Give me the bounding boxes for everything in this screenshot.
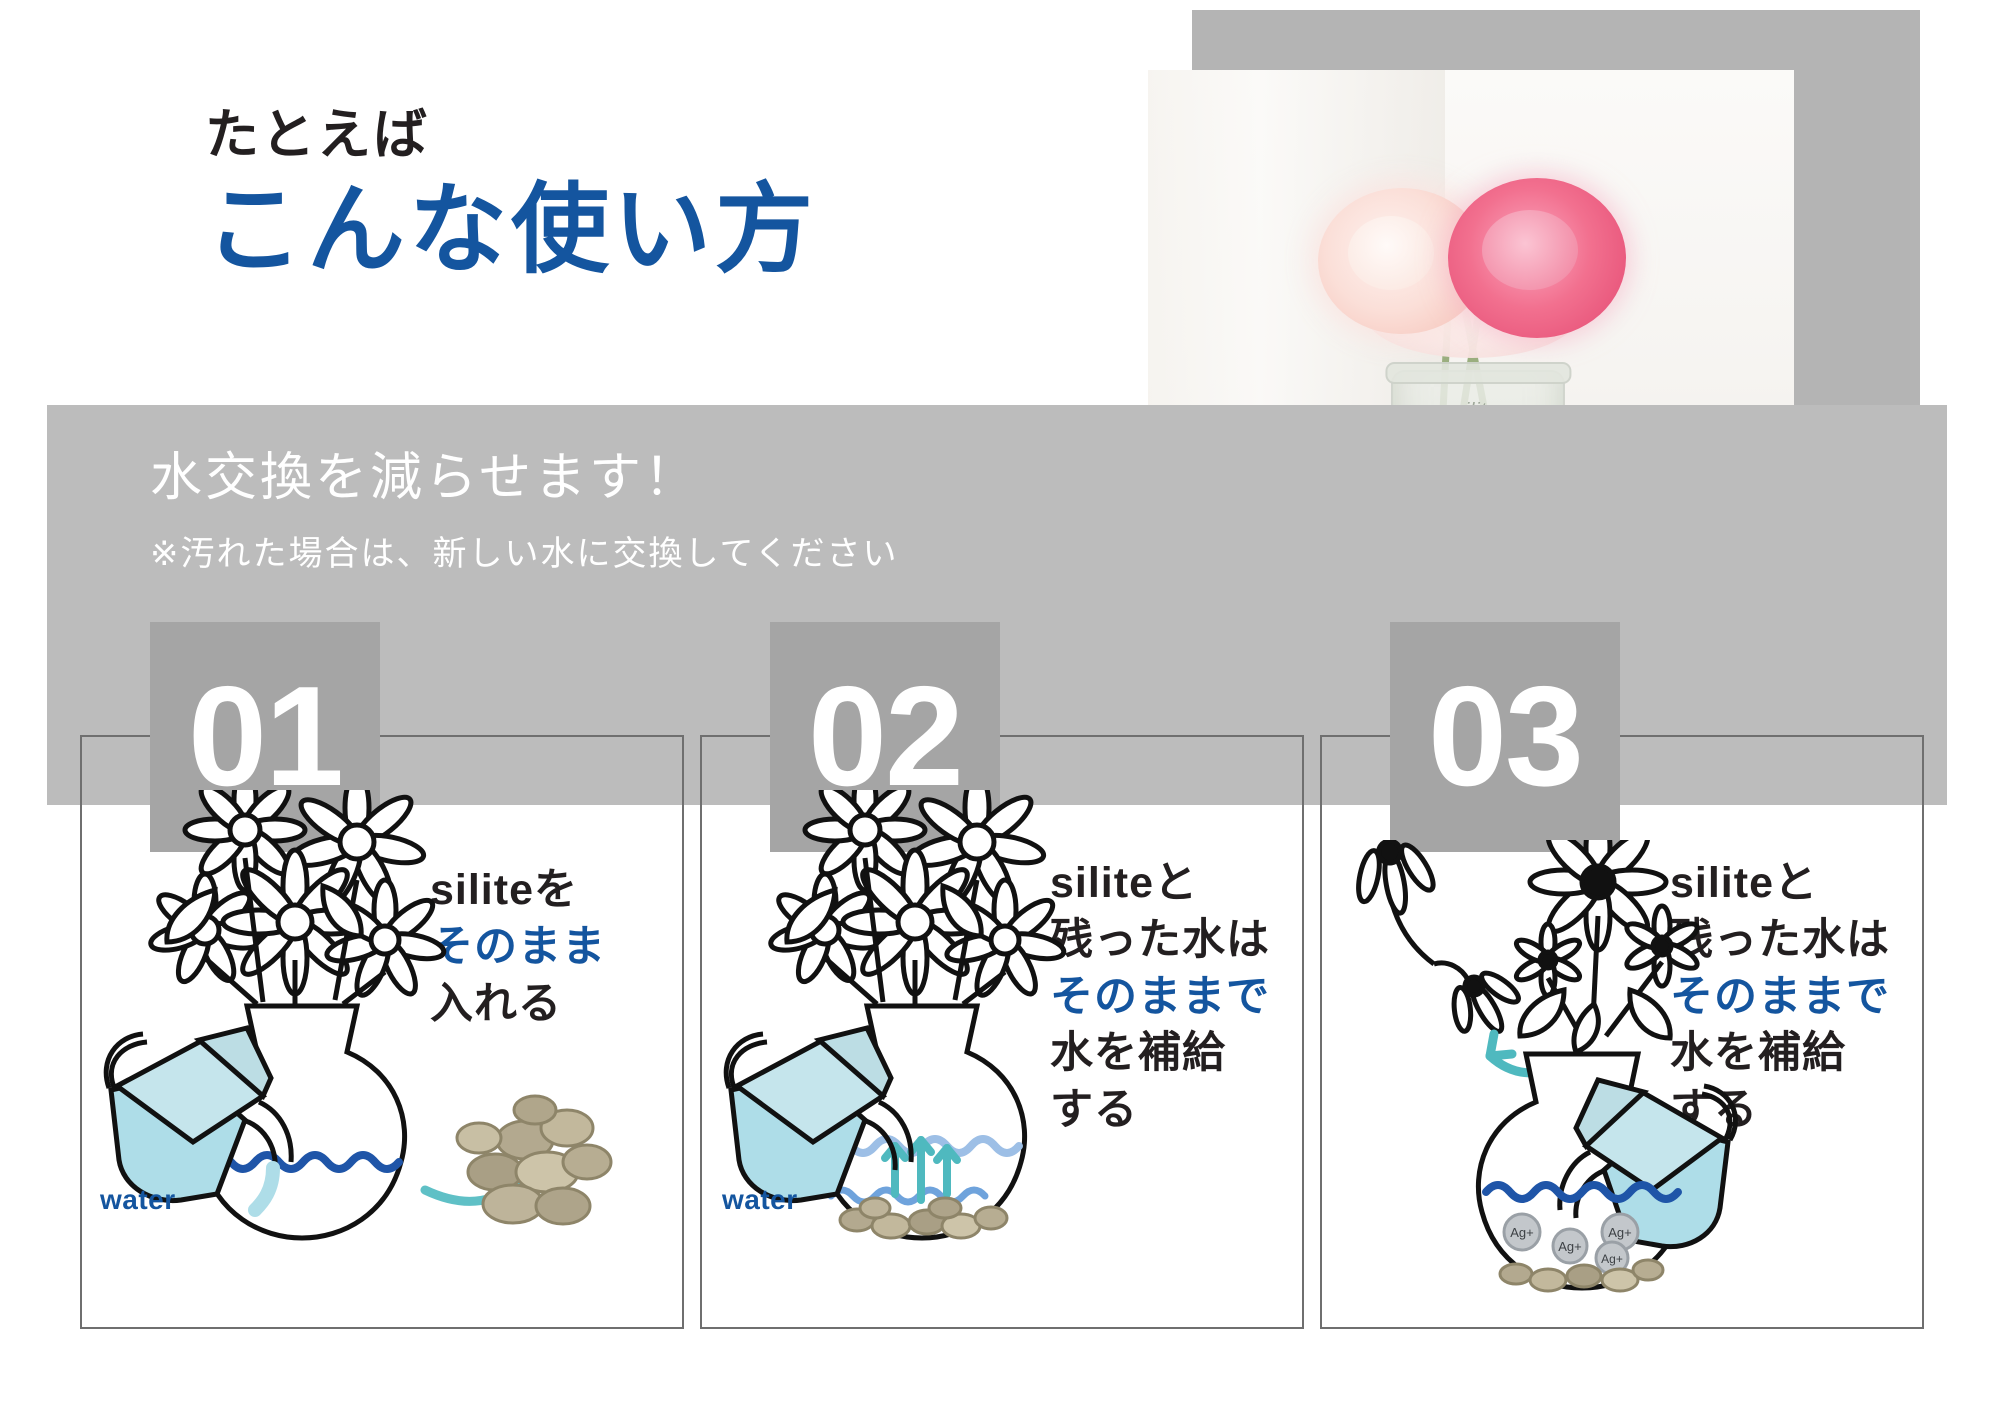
band-note: ※汚れた場合は、新しい水に交換してください [150, 537, 898, 571]
daisy-cluster-01 [148, 790, 446, 1004]
water-label-01: water [100, 1184, 176, 1216]
slide-canvas: silite silite たとえば こんな使い方 水交換を減らせます！ ※汚れ… [0, 0, 2000, 1414]
revived-flower-03 [1513, 840, 1700, 1052]
hot-pink-ranunculus-bloom [1448, 178, 1626, 338]
ion-label: Ag+ [1608, 1225, 1632, 1240]
step-illustration-02 [715, 790, 1115, 1300]
band-title: 水交換を減らせます！ [150, 452, 699, 504]
kicker-text: たとえば [205, 108, 429, 162]
daisy-cluster-02 [768, 790, 1066, 1004]
water-label-02: water [722, 1184, 798, 1216]
ion-label: Ag+ [1510, 1225, 1534, 1240]
wilted-flower-03 [1346, 840, 1533, 1050]
gravel-bed-03 [1500, 1260, 1663, 1291]
step-illustration-03: Ag+ Ag+ Ag+ Ag+ [1330, 840, 1750, 1310]
glass-jar-rim [1385, 362, 1571, 384]
step-number-03: 03 [1390, 622, 1620, 852]
ion-label: Ag+ [1558, 1239, 1582, 1254]
page-title: こんな使い方 [205, 180, 817, 278]
ion-label: Ag+ [1601, 1252, 1623, 1266]
step-illustration-01 [95, 790, 615, 1300]
